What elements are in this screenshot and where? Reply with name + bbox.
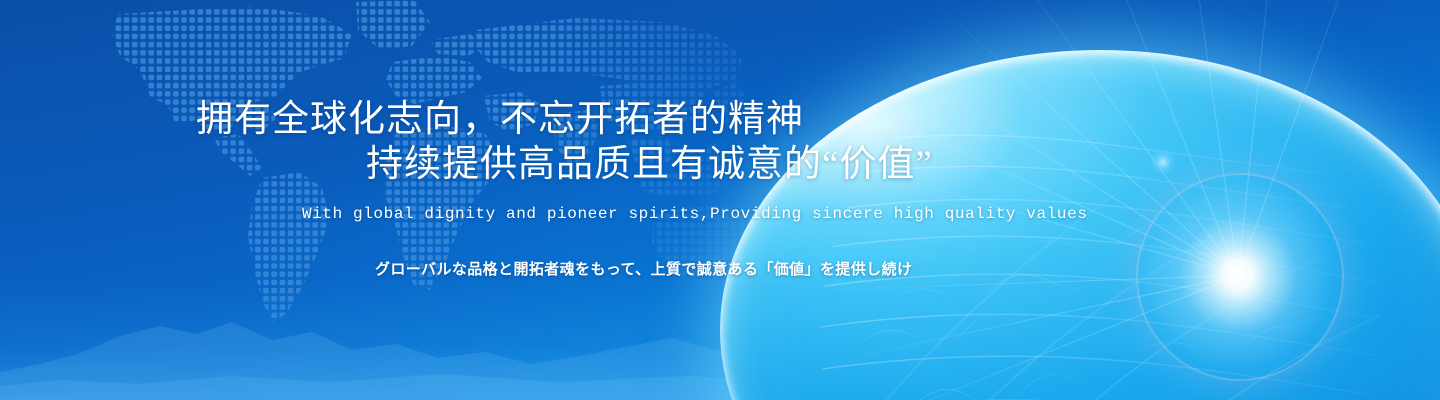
banner-copy: 拥有全球化志向，不忘开拓者的精神 持续提供高品质且有诚意的“价值” With g… — [0, 0, 1440, 400]
headline-line-2: 持续提供高品质且有诚意的“价值” — [366, 133, 933, 187]
subheadline-english: With global dignity and pioneer spirits,… — [302, 205, 1088, 223]
subheadline-japanese: グローバルな品格と開拓者魂をもって、上質で誠意ある「価値」を提供し続け — [375, 258, 912, 279]
hero-banner: 拥有全球化志向，不忘开拓者的精神 持续提供高品质且有诚意的“价值” With g… — [0, 0, 1440, 400]
